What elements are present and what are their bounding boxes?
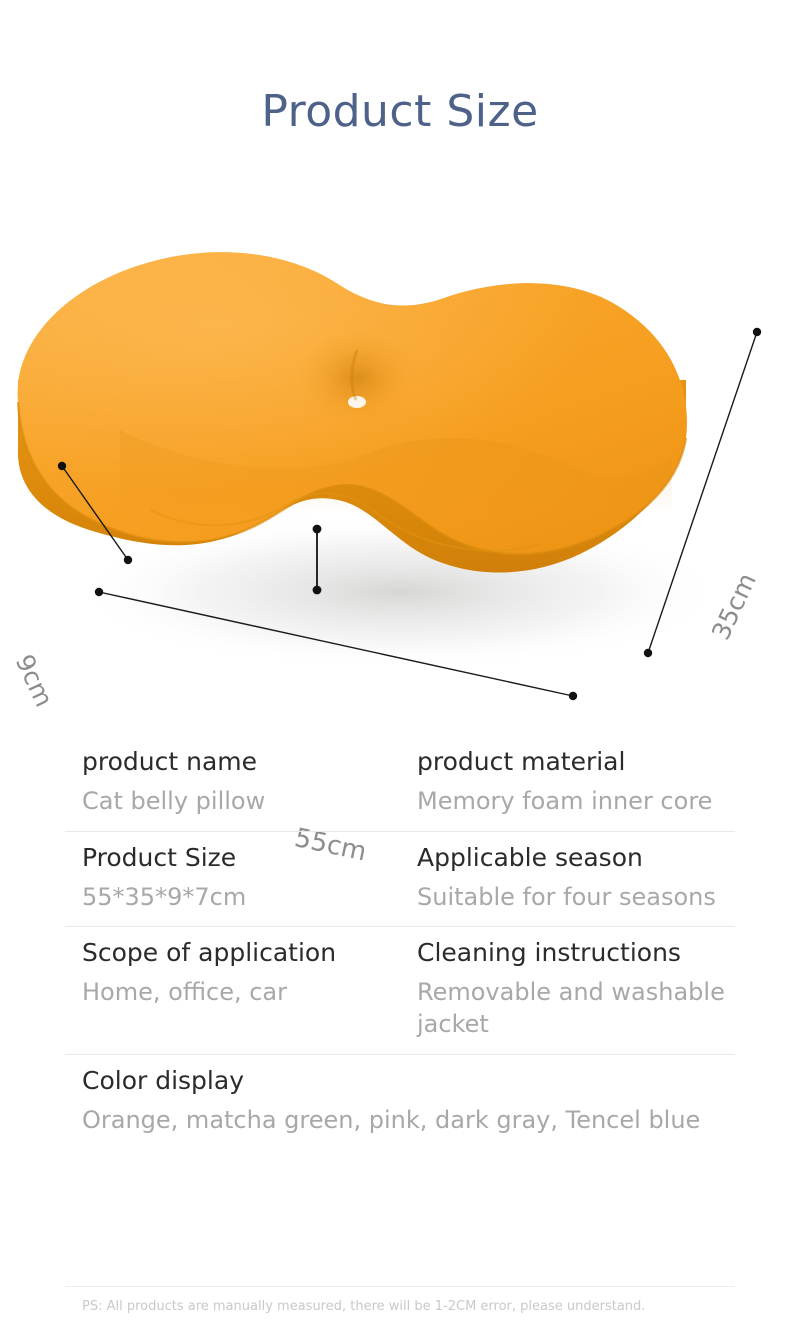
product-image: 9cm 55cm 35cm 7cm (0, 180, 800, 720)
spec-value: Removable and washable jacket (417, 969, 735, 1054)
spec-cell-product-name: product name Cat belly pillow (65, 736, 400, 832)
spec-label: Color display (82, 1055, 735, 1097)
spec-label: product material (417, 736, 735, 778)
spec-value: Cat belly pillow (82, 778, 400, 832)
spec-label: product name (82, 736, 400, 778)
spec-value: Memory foam inner core (417, 778, 735, 832)
spec-cell-applicable-season: Applicable season Suitable for four seas… (400, 832, 735, 928)
spec-label: Cleaning instructions (417, 927, 735, 969)
spec-row-color-display: Color display Orange, matcha green, pink… (0, 1055, 800, 1151)
spec-value: Home, office, car (82, 969, 400, 1023)
spec-value: Orange, matcha green, pink, dark gray, T… (82, 1097, 735, 1151)
pillow-dimple-core (348, 396, 366, 408)
spec-label: Scope of application (82, 927, 400, 969)
pillow-dimple (295, 334, 419, 438)
spec-row: Scope of application Home, office, car C… (0, 927, 800, 1054)
spec-cell-product-size: Product Size 55*35*9*7cm (65, 832, 400, 928)
spec-label: Product Size (82, 832, 400, 874)
spec-label: Applicable season (417, 832, 735, 874)
specification-table: product name Cat belly pillow product ma… (0, 736, 800, 1150)
spec-cell-cleaning-instructions: Cleaning instructions Removable and wash… (400, 927, 735, 1054)
page-title: Product Size (0, 86, 800, 137)
footer-divider (65, 1286, 735, 1287)
footer: PS: All products are manually measured, … (0, 1286, 800, 1314)
spec-row: product name Cat belly pillow product ma… (0, 736, 800, 832)
spec-cell-product-material: product material Memory foam inner core (400, 736, 735, 832)
spec-row: Product Size 55*35*9*7cm Applicable seas… (0, 832, 800, 928)
spec-cell-scope-of-application: Scope of application Home, office, car (65, 927, 400, 1054)
spec-value: 55*35*9*7cm (82, 874, 400, 928)
spec-value: Suitable for four seasons (417, 874, 735, 928)
spec-cell-color-display: Color display Orange, matcha green, pink… (65, 1055, 735, 1151)
footer-disclaimer: PS: All products are manually measured, … (65, 1299, 735, 1314)
